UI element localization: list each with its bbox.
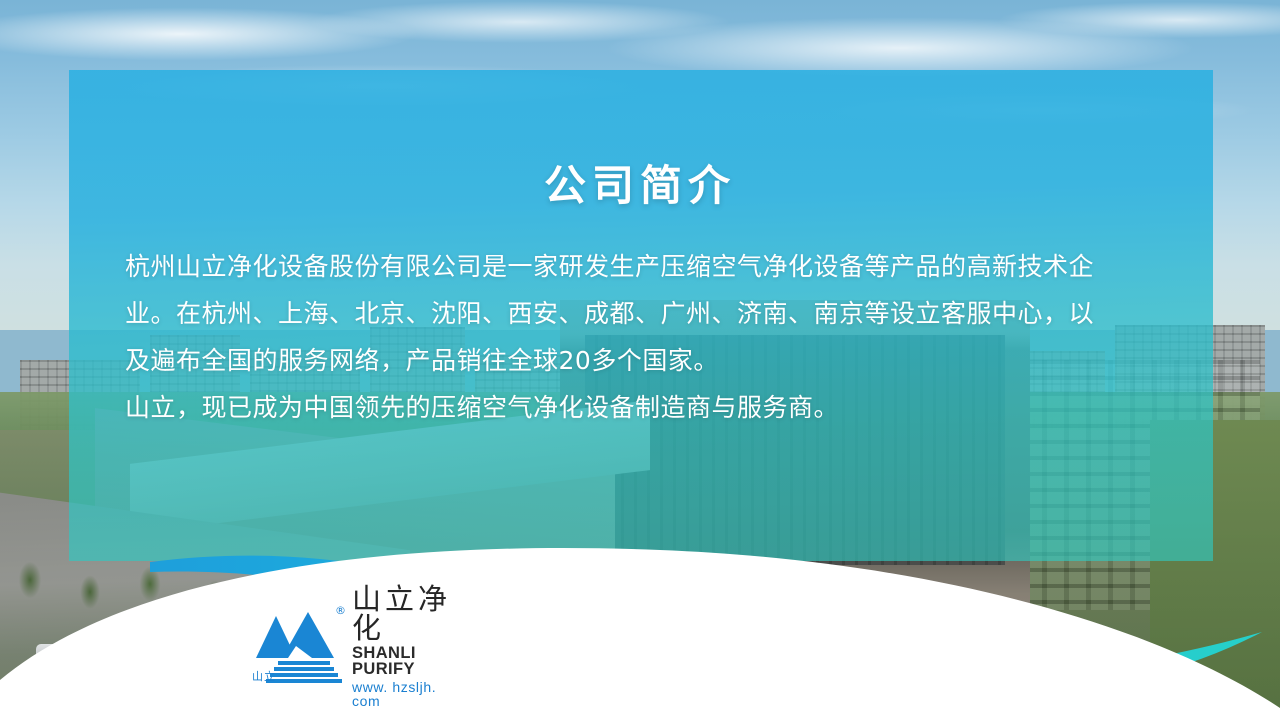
brand-wordmark: 山立净化 SHANLI PURIFY www. hzsljh. com <box>352 585 464 708</box>
brand-logo[interactable]: ® 山立 山立净化 SHANLI PURIFY www. hzsljh. com <box>252 604 464 688</box>
company-description: 杭州山立净化设备股份有限公司是一家研发生产压缩空气净化设备等产品的高新技术企业。… <box>125 243 1100 431</box>
slide-canvas: 公司简介 杭州山立净化设备股份有限公司是一家研发生产压缩空气净化设备等产品的高新… <box>0 0 1280 720</box>
brand-name-cn: 山立净化 <box>352 585 464 643</box>
bottom-white-curve <box>0 520 1280 720</box>
description-paragraph-2: 山立，现已成为中国领先的压缩空气净化设备制造商与服务商。 <box>125 384 1100 431</box>
page-title: 公司简介 <box>0 152 1280 213</box>
shanli-mountain-icon: ® 山立 <box>252 606 344 686</box>
description-paragraph-1: 杭州山立净化设备股份有限公司是一家研发生产压缩空气净化设备等产品的高新技术企业。… <box>125 243 1100 384</box>
registered-trademark-icon: ® <box>335 604 346 617</box>
brand-name-en: SHANLI PURIFY <box>352 645 464 678</box>
brand-website[interactable]: www. hzsljh. com <box>352 680 464 708</box>
mark-chinese-label: 山立 <box>252 668 276 684</box>
